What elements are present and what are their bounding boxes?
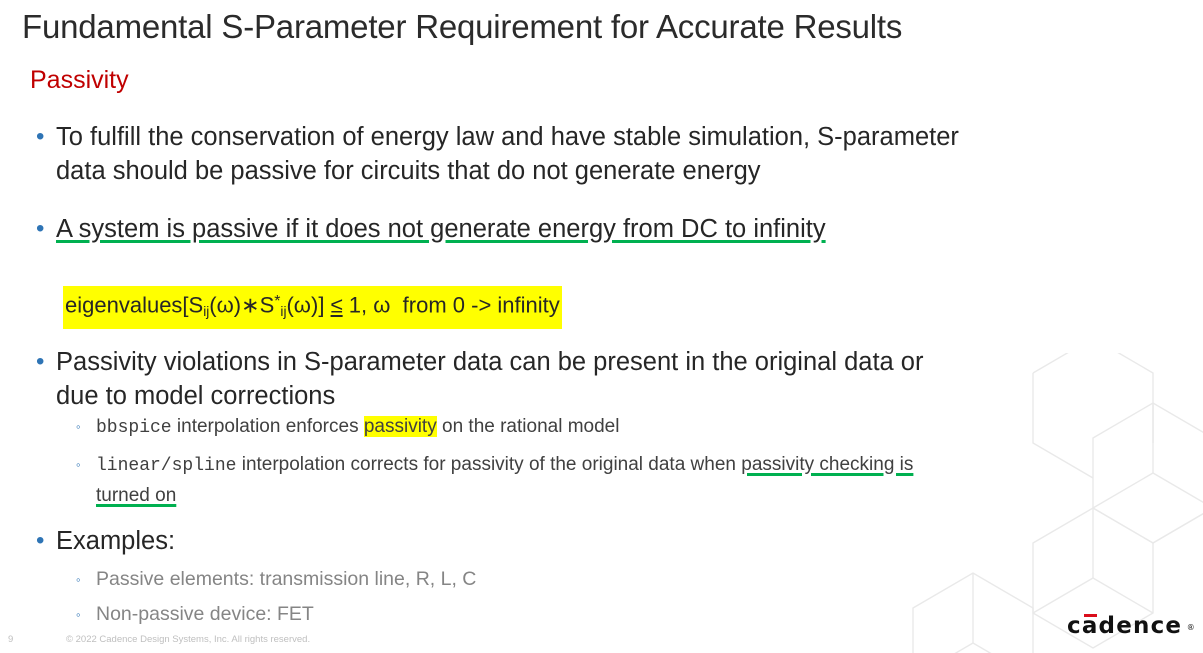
- bullet-dot-icon: •: [30, 345, 56, 379]
- sub-bullet-linear-spline: ◦ linear/spline interpolation corrects f…: [62, 450, 1192, 510]
- sub-bullet-circle-icon: ◦: [62, 412, 96, 441]
- passivity-equation: eigenvalues[Sij(ω)∗S*ij(ω)] ≤ 1, ω from …: [63, 286, 562, 329]
- page-title: Fundamental S-Parameter Requirement for …: [22, 7, 902, 47]
- eq-prefix: eigenvalues[S: [65, 293, 203, 318]
- code-bbspice: bbspice: [96, 418, 172, 438]
- bullet-item-3: • Passivity violations in S-parameter da…: [30, 345, 1180, 413]
- sub-bullet-circle-icon: ◦: [62, 565, 96, 594]
- sub1-tail: on the rational model: [437, 416, 620, 437]
- bullet-item-1: • To fulfill the conservation of energy …: [30, 120, 1180, 188]
- bullet-3-text: Passivity violations in S-parameter data…: [56, 345, 923, 413]
- equation-block: eigenvalues[Sij(ω)∗S*ij(ω)] ≤ 1, ω from …: [63, 286, 562, 329]
- slide-canvas: Fundamental S-Parameter Requirement for …: [0, 0, 1203, 653]
- bullet-dot-icon: •: [30, 212, 56, 246]
- bullet-1-line-1: To fulfill the conservation of energy la…: [56, 123, 959, 151]
- page-number: 9: [8, 634, 13, 645]
- eq-value: 1,: [349, 293, 367, 318]
- section-subheading: Passivity: [30, 64, 129, 96]
- eq-omega-1: (ω): [209, 293, 241, 318]
- sub-bullet-bbspice: ◦ bbspice interpolation enforces passivi…: [62, 412, 1182, 443]
- bullet-item-4: • Examples:: [30, 524, 730, 558]
- bullet-dot-icon: •: [30, 524, 56, 558]
- bullet-2-text: A system is passive if it does not gener…: [56, 212, 826, 246]
- bullet-4-text: Examples:: [56, 524, 175, 558]
- copyright-notice: © 2022 Cadence Design Systems, Inc. All …: [66, 634, 310, 645]
- eq-relation: ≤: [331, 293, 343, 318]
- sub-bullet-linear-spline-text: linear/spline interpolation corrects for…: [96, 450, 913, 510]
- eq-star-operator: ∗: [241, 293, 259, 318]
- sub-bullet-passive-elements: ◦ Passive elements: transmission line, R…: [62, 565, 762, 594]
- sub-bullet-circle-icon: ◦: [62, 600, 96, 629]
- sub1-highlight-passivity: passivity: [364, 416, 437, 437]
- sub-bullet-passive-elements-text: Passive elements: transmission line, R, …: [96, 565, 476, 594]
- eq-range: from 0 -> infinity: [403, 293, 560, 318]
- registered-trademark-icon: ®: [1187, 615, 1196, 641]
- cadence-logo-wordmark: cadence ®: [1067, 613, 1187, 639]
- eq-omega-3: ω: [373, 293, 390, 318]
- eq-omega-2: (ω)]: [286, 293, 324, 318]
- bullet-3-line-1: Passivity violations in S-parameter data…: [56, 348, 923, 376]
- cadence-logo: cadence ®: [1067, 613, 1187, 643]
- bullet-1-text: To fulfill the conservation of energy la…: [56, 120, 959, 188]
- code-linear-spline: linear/spline: [96, 456, 236, 476]
- sub2-underlined-b: turned on: [96, 485, 176, 506]
- cadence-logo-macron-icon: [1084, 614, 1097, 617]
- sub-bullet-non-passive-device-text: Non-passive device: FET: [96, 600, 314, 629]
- bullet-1-line-2: data should be passive for circuits that…: [56, 157, 761, 185]
- bullet-3-line-2: due to model corrections: [56, 382, 335, 410]
- sub-bullet-non-passive-device: ◦ Non-passive device: FET: [62, 600, 762, 629]
- bullet-item-2: • A system is passive if it does not gen…: [30, 212, 1180, 246]
- eq-s-conjugate: S: [260, 293, 275, 318]
- sub-bullet-circle-icon: ◦: [62, 450, 96, 479]
- sub-bullet-bbspice-text: bbspice interpolation enforces passivity…: [96, 412, 619, 443]
- sub2-mid: interpolation corrects for passivity of …: [236, 454, 741, 475]
- sub1-mid: interpolation enforces: [172, 416, 364, 437]
- bullet-dot-icon: •: [30, 120, 56, 154]
- sub2-underlined-a: passivity checking is: [741, 454, 913, 475]
